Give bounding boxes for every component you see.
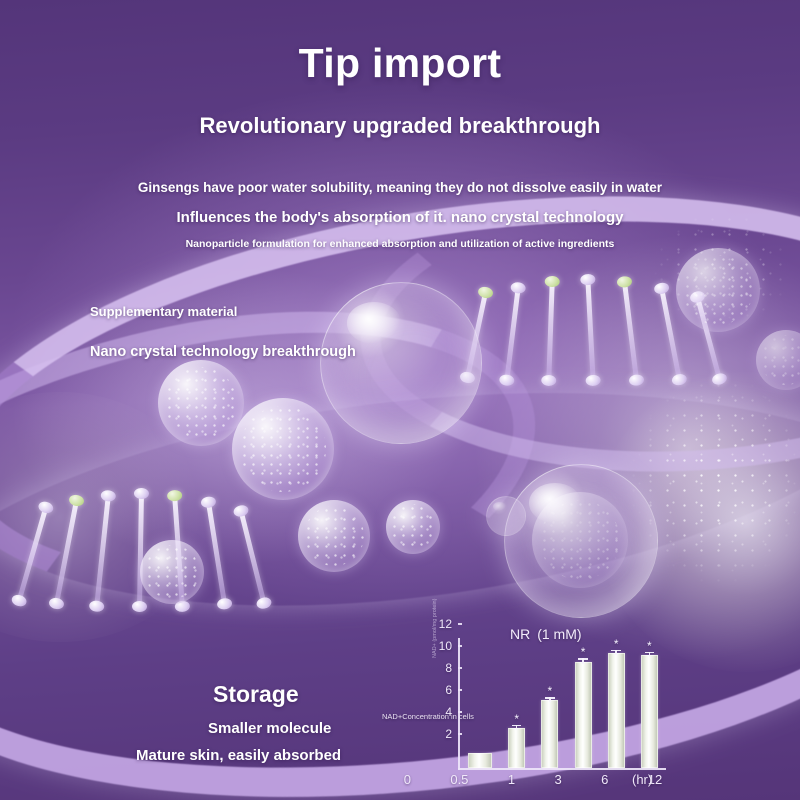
dna-rung bbox=[54, 500, 79, 603]
dna-rung bbox=[94, 496, 110, 606]
bubble-small bbox=[486, 496, 526, 536]
bottom-heading-storage: Storage bbox=[213, 681, 299, 708]
bottom-mature-skin: Mature skin, easily absorbed bbox=[136, 747, 341, 764]
chart-bar bbox=[508, 728, 525, 769]
body-line-2: Influences the body's absorption of it. … bbox=[0, 209, 800, 226]
bubble-highlight bbox=[493, 502, 506, 512]
chart-x-axis bbox=[458, 768, 666, 770]
nanoparticle-sphere bbox=[158, 360, 244, 446]
dna-rung bbox=[659, 288, 681, 379]
chart-y-tick: 12 bbox=[439, 617, 458, 631]
dna-rung bbox=[504, 288, 520, 380]
dna-rung bbox=[695, 297, 722, 379]
chart-significance-marker: * bbox=[548, 688, 553, 694]
nanoparticle-sphere bbox=[298, 500, 370, 572]
chart-bar-group: * bbox=[641, 638, 658, 768]
body-line-3: Nanoparticle formulation for enhanced ab… bbox=[0, 238, 800, 250]
callout-nano-breakthrough: Nano crystal technology breakthrough bbox=[90, 344, 356, 360]
sparkle-particle-cloud bbox=[608, 378, 800, 648]
callout-supplementary-material: Supplementary material bbox=[90, 304, 237, 319]
chart-bar-group: * bbox=[508, 638, 525, 768]
nanoparticle-sphere bbox=[140, 540, 204, 604]
dna-rung bbox=[546, 282, 554, 380]
chart-y-tick: 4 bbox=[445, 705, 458, 719]
bubble-highlight bbox=[529, 483, 581, 523]
chart-bar bbox=[468, 753, 492, 768]
dna-rung bbox=[137, 494, 144, 606]
chart-x-tick-label: 1 bbox=[508, 772, 515, 787]
page-title: Tip import bbox=[0, 40, 800, 87]
nad-concentration-bar-chart: NR (1 mM) NAD+Concentration in cells NAD… bbox=[382, 624, 682, 800]
bubble-large-lower-right bbox=[504, 464, 658, 618]
chart-bar bbox=[608, 653, 625, 768]
chart-x-tick-label: 6 bbox=[601, 772, 608, 787]
chart-significance-marker: * bbox=[581, 649, 586, 655]
chart-bar bbox=[541, 700, 558, 768]
chart-significance-marker: * bbox=[614, 641, 619, 647]
nanoparticle-sphere bbox=[756, 330, 800, 390]
dna-rung bbox=[465, 292, 488, 377]
chart-bar-group bbox=[468, 638, 492, 768]
chart-y-tick: 2 bbox=[445, 727, 458, 741]
chart-y-tick: 8 bbox=[445, 661, 458, 675]
chart-bar bbox=[641, 655, 658, 768]
chart-y-axis-units-label: NAD+ (pmol/mg protein) bbox=[432, 599, 438, 658]
dna-rung bbox=[622, 282, 639, 380]
nanoparticle-sphere bbox=[232, 398, 334, 500]
chart-significance-marker: * bbox=[514, 716, 519, 722]
dna-rung bbox=[172, 496, 185, 606]
chart-x-tick-label: 0 bbox=[404, 772, 411, 787]
nanoparticle-sphere bbox=[386, 500, 440, 554]
body-line-1: Ginsengs have poor water solubility, mea… bbox=[0, 180, 800, 195]
dna-rung bbox=[239, 511, 267, 603]
chart-bars: ***** bbox=[460, 638, 666, 768]
chart-y-tick: 10 bbox=[439, 639, 458, 653]
chart-x-tick-label: 0.5 bbox=[450, 772, 468, 787]
dna-rung bbox=[206, 502, 227, 604]
dna-strand-back-right bbox=[350, 147, 800, 494]
chart-x-tick-label: 3 bbox=[554, 772, 561, 787]
dna-rung bbox=[585, 280, 595, 380]
bottom-smaller-molecule: Smaller molecule bbox=[208, 720, 331, 737]
poster-canvas: Tip import Revolutionary upgraded breakt… bbox=[0, 0, 800, 800]
chart-bar bbox=[575, 662, 592, 769]
light-glow-left bbox=[0, 392, 210, 642]
nanoparticle-sphere bbox=[676, 248, 760, 332]
sparkle-particle-cloud-top bbox=[636, 212, 800, 362]
chart-significance-marker: * bbox=[647, 643, 652, 649]
chart-bar-group: * bbox=[541, 638, 558, 768]
bubble-large-upper bbox=[320, 282, 482, 444]
dna-rung bbox=[17, 507, 48, 601]
chart-y-tick: 6 bbox=[445, 683, 458, 697]
chart-bar-group: * bbox=[575, 638, 592, 768]
bubble-core-particle bbox=[532, 492, 628, 588]
bubble-highlight bbox=[347, 302, 401, 344]
chart-plot-area: 24681012 ***** bbox=[458, 638, 666, 770]
chart-x-axis-unit: (hr) bbox=[632, 772, 652, 787]
page-subtitle: Revolutionary upgraded breakthrough bbox=[0, 113, 800, 139]
chart-bar-group: * bbox=[608, 638, 625, 768]
